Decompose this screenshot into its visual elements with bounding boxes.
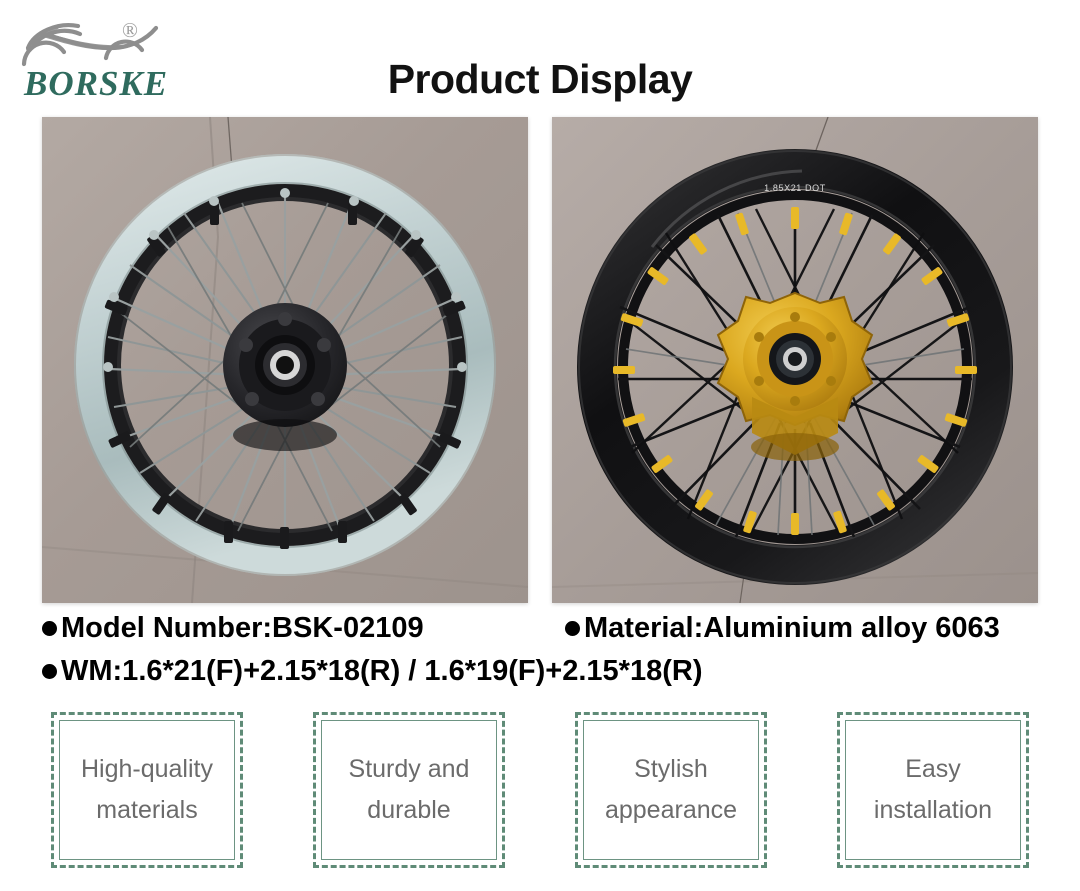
feature-box-inner: High-quality materials — [59, 720, 235, 860]
feature-label: Sturdy and durable — [328, 749, 490, 832]
bullet-icon — [42, 664, 57, 679]
feature-label: Stylish appearance — [590, 749, 752, 832]
feature-label: Easy installation — [852, 749, 1014, 832]
svg-text:1.85X21 DOT: 1.85X21 DOT — [764, 183, 826, 193]
spec-wm-text: WM:1.6*21(F)+2.15*18(R) / 1.6*19(F)+2.15… — [61, 655, 702, 688]
spec-material-text: Material:Aluminium alloy 6063 — [584, 612, 1000, 645]
feature-box-list: High-quality materials Sturdy and durabl… — [51, 712, 1029, 868]
black-rim-gold-hub-wheel-photo: 1.85X21 DOT — [552, 117, 1038, 603]
page-title: Product Display — [0, 56, 1080, 103]
feature-box-stylish-appearance: Stylish appearance — [575, 712, 767, 868]
spec-model-number: Model Number:BSK-02109 — [42, 612, 424, 645]
feature-box-inner: Sturdy and durable — [321, 720, 497, 860]
feature-label: High-quality materials — [66, 749, 228, 832]
black-rim-gold-hub-wheel-image: 1.85X21 DOT — [552, 117, 1038, 603]
bullet-icon — [42, 621, 57, 636]
trademark-symbol: ® — [122, 18, 138, 43]
feature-box-inner: Easy installation — [845, 720, 1021, 860]
product-specs: Model Number:BSK-02109 Material:Aluminiu… — [0, 612, 1080, 698]
feature-box-sturdy-and-durable: Sturdy and durable — [313, 712, 505, 868]
spec-row-1: Model Number:BSK-02109 Material:Aluminiu… — [0, 612, 1080, 655]
spec-row-2: WM:1.6*21(F)+2.15*18(R) / 1.6*19(F)+2.15… — [0, 655, 1080, 698]
bullet-icon — [565, 621, 580, 636]
feature-box-inner: Stylish appearance — [583, 720, 759, 860]
silver-rim-wheel-photo — [42, 117, 528, 603]
spec-model-number-text: Model Number:BSK-02109 — [61, 612, 424, 645]
silver-rim-wheel-image — [42, 117, 528, 603]
spec-wm: WM:1.6*21(F)+2.15*18(R) / 1.6*19(F)+2.15… — [42, 655, 702, 688]
product-display-page: ® BORSKE Product Display — [0, 0, 1080, 891]
feature-box-high-quality-materials: High-quality materials — [51, 712, 243, 868]
spec-material: Material:Aluminium alloy 6063 — [565, 612, 1000, 645]
feature-box-easy-installation: Easy installation — [837, 712, 1029, 868]
